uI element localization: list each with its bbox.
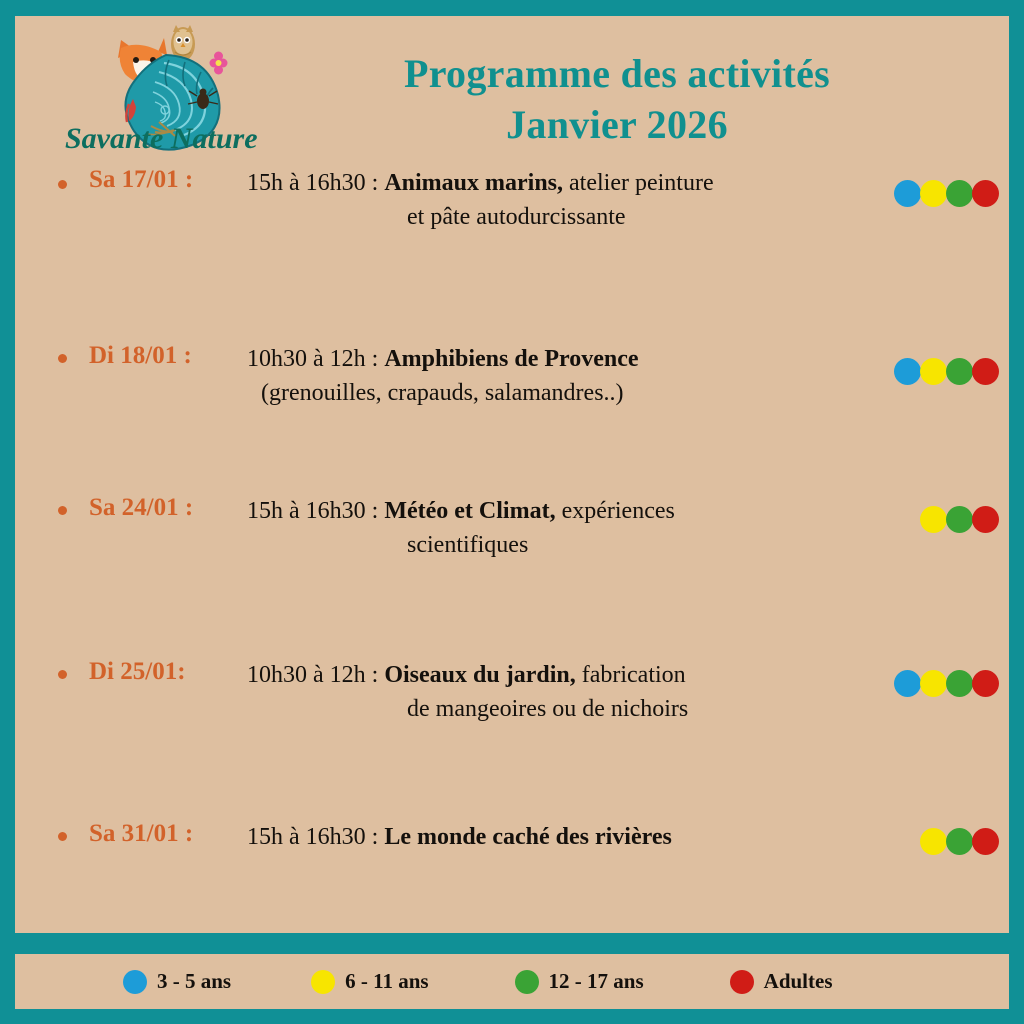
activity-description: 10h30 à 12h : Oiseaux du jardin, fabrica… xyxy=(247,656,889,726)
activity-line-1: 15h à 16h30 : Le monde caché des rivière… xyxy=(247,820,881,854)
activity-time: 15h à 16h30 : xyxy=(247,824,384,850)
savante-nature-logo: Savante Nature xyxy=(63,22,263,154)
legend-label: 3 - 5 ans xyxy=(157,969,231,994)
activity-line-1: 15h à 16h30 : Animaux marins, atelier pe… xyxy=(247,166,881,200)
activity-line-1: 15h à 16h30 : Météo et Climat, expérienc… xyxy=(247,494,881,528)
age-dot-green xyxy=(946,358,973,385)
activity-row: Di 18/01 :10h30 à 12h : Amphibiens de Pr… xyxy=(15,328,1009,492)
activity-time: 15h à 16h30 : xyxy=(247,170,384,196)
legend-dot-red xyxy=(730,970,754,994)
page-title: Programme des activités Janvier 2026 xyxy=(265,48,969,150)
age-dot-red xyxy=(972,506,999,533)
activity-line-2: de mangeoires ou de nichoirs xyxy=(247,692,881,726)
legend-dot-yellow xyxy=(311,970,335,994)
legend-item: 6 - 11 ans xyxy=(311,969,428,994)
activity-line-2: (grenouilles, crapauds, salamandres..) xyxy=(247,376,881,410)
title-line-1: Programme des activités xyxy=(265,48,969,99)
activity-row: Di 25/01:10h30 à 12h : Oiseaux du jardin… xyxy=(15,656,1009,820)
activity-date: Sa 24/01 : xyxy=(67,492,247,522)
activity-time: 10h30 à 12h : xyxy=(247,662,384,688)
age-group-dots xyxy=(889,328,1009,385)
legend-dot-green xyxy=(515,970,539,994)
activity-description: 15h à 16h30 : Le monde caché des rivière… xyxy=(247,820,889,854)
activity-time: 10h30 à 12h : xyxy=(247,346,384,372)
age-dot-blue xyxy=(894,180,921,207)
activity-line-2: et pâte autodurcissante xyxy=(247,200,881,234)
bullet-icon xyxy=(58,180,67,189)
activity-date: Sa 17/01 : xyxy=(67,166,247,194)
age-dot-red xyxy=(972,358,999,385)
age-dot-red xyxy=(972,180,999,207)
activity-description: 10h30 à 12h : Amphibiens de Provence(gre… xyxy=(247,328,889,410)
age-dot-blue xyxy=(894,670,921,697)
age-dot-yellow xyxy=(920,358,947,385)
activity-row: Sa 31/01 :15h à 16h30 : Le monde caché d… xyxy=(15,820,1009,939)
flower-icon xyxy=(210,52,228,75)
program-poster: Savante Nature Programme des activités J… xyxy=(0,0,1024,1024)
activity-title: Le monde caché des rivières xyxy=(384,824,672,850)
age-group-dots xyxy=(889,820,1009,855)
activity-subtitle: expériences xyxy=(556,498,675,524)
activity-title: Météo et Climat, xyxy=(384,498,555,524)
age-dot-green xyxy=(946,180,973,207)
activity-title: Oiseaux du jardin, xyxy=(384,662,575,688)
age-dot-red xyxy=(972,828,999,855)
legend-panel: 3 - 5 ans6 - 11 ans12 - 17 ansAdultes xyxy=(9,948,1015,1015)
activity-description: 15h à 16h30 : Météo et Climat, expérienc… xyxy=(247,492,889,562)
bullet-cell xyxy=(15,166,67,189)
age-dot-green xyxy=(946,506,973,533)
main-panel: Savante Nature Programme des activités J… xyxy=(9,9,1015,939)
activity-subtitle: atelier peinture xyxy=(563,170,714,196)
activity-line-1: 10h30 à 12h : Oiseaux du jardin, fabrica… xyxy=(247,658,881,692)
title-line-2: Janvier 2026 xyxy=(265,99,969,150)
activity-row: Sa 17/01 :15h à 16h30 : Animaux marins, … xyxy=(15,166,1009,328)
bullet-cell xyxy=(15,820,67,841)
bullet-icon xyxy=(58,670,67,679)
activity-title: Animaux marins, xyxy=(384,170,563,196)
bullet-icon xyxy=(58,354,67,363)
activity-subtitle: fabrication xyxy=(576,662,686,688)
age-group-dots xyxy=(889,492,1009,533)
activity-date: Sa 31/01 : xyxy=(67,820,247,848)
age-dot-yellow xyxy=(920,828,947,855)
age-dot-yellow xyxy=(920,670,947,697)
bullet-icon xyxy=(58,506,67,515)
legend-label: 12 - 17 ans xyxy=(549,969,644,994)
age-group-dots xyxy=(889,656,1009,697)
age-dot-green xyxy=(946,828,973,855)
age-dot-red xyxy=(972,670,999,697)
activity-line-2: scientifiques xyxy=(247,528,881,562)
activity-description: 15h à 16h30 : Animaux marins, atelier pe… xyxy=(247,166,889,234)
bullet-cell xyxy=(15,656,67,679)
age-dot-green xyxy=(946,670,973,697)
legend-item: 3 - 5 ans xyxy=(123,969,231,994)
activity-time: 15h à 16h30 : xyxy=(247,498,384,524)
age-dot-yellow xyxy=(920,180,947,207)
activity-line-1: 10h30 à 12h : Amphibiens de Provence xyxy=(247,342,881,376)
legend-item: Adultes xyxy=(730,969,833,994)
activity-list: Sa 17/01 :15h à 16h30 : Animaux marins, … xyxy=(15,166,1009,939)
age-dot-blue xyxy=(894,358,921,385)
poster-header: Savante Nature Programme des activités J… xyxy=(15,16,1009,166)
bullet-cell xyxy=(15,328,67,363)
legend-dot-blue xyxy=(123,970,147,994)
age-group-dots xyxy=(889,166,1009,207)
logo-wordmark-text: Savante Nature xyxy=(65,122,258,154)
activity-title: Amphibiens de Provence xyxy=(384,346,638,372)
activity-row: Sa 24/01 :15h à 16h30 : Météo et Climat,… xyxy=(15,492,1009,656)
legend-item: 12 - 17 ans xyxy=(515,969,644,994)
activity-date: Di 18/01 : xyxy=(67,328,247,370)
activity-date: Di 25/01: xyxy=(67,656,247,686)
age-dot-yellow xyxy=(920,506,947,533)
legend-label: Adultes xyxy=(764,969,833,994)
bullet-cell xyxy=(15,492,67,515)
legend-label: 6 - 11 ans xyxy=(345,969,428,994)
bullet-icon xyxy=(58,832,67,841)
